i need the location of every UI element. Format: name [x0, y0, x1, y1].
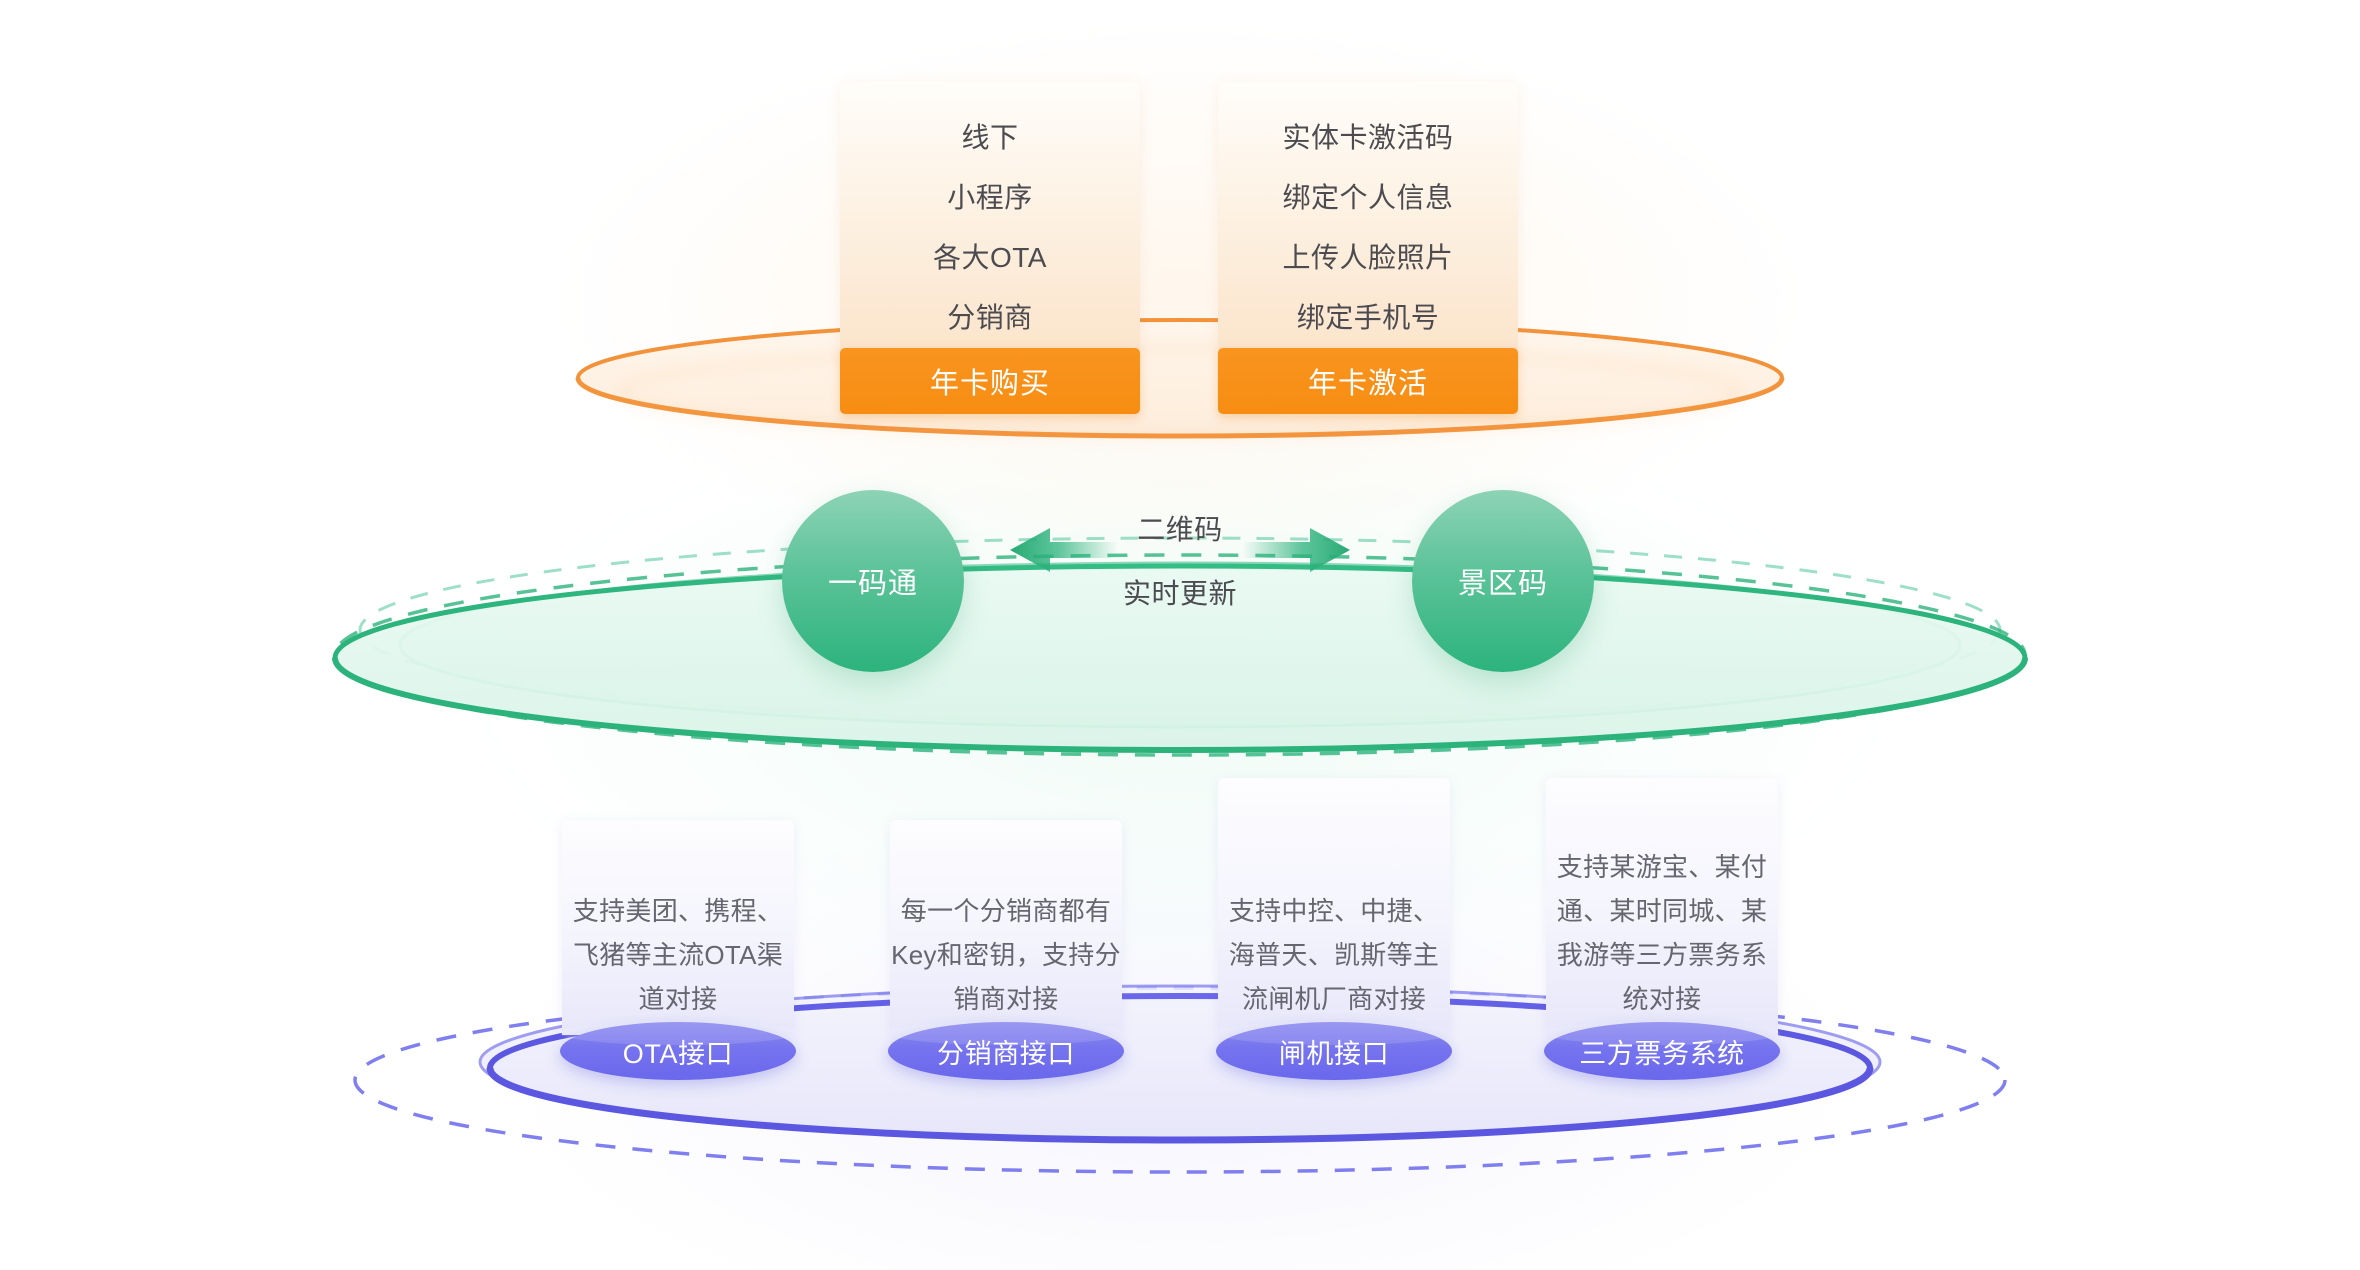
card-line: 绑定手机号 [1297, 288, 1440, 348]
card-line: 上传人脸照片 [1282, 228, 1453, 288]
card-line: 各大OTA [933, 228, 1047, 288]
card-line: 分销商 [947, 288, 1033, 348]
third-party-ticketing-card: 支持某游宝、某付通、某时同城、某我游等三方票务系统对接 [1546, 778, 1778, 1035]
card-line: 小程序 [947, 168, 1033, 228]
activation-step-card: 实体卡激活码 绑定个人信息 上传人脸照片 绑定手机号 [1218, 82, 1518, 354]
card-description: 支持中控、中捷、海普天、凯斯等主流闸机厂商对接 [1218, 889, 1450, 1021]
card-line: 实体卡激活码 [1282, 108, 1453, 168]
ota-interface-card: 支持美团、携程、飞猪等主流OTA渠道对接 [562, 820, 794, 1035]
purchase-channel-card: 线下 小程序 各大OTA 分销商 [840, 82, 1140, 354]
gate-interface-card: 支持中控、中捷、海普天、凯斯等主流闸机厂商对接 [1218, 778, 1450, 1035]
annual-card-purchase-button[interactable]: 年卡购买 [840, 348, 1140, 414]
scenic-code-node[interactable]: 景区码 [1412, 490, 1594, 672]
qr-code-label: 二维码 [1050, 508, 1310, 548]
ota-interface-button[interactable]: OTA接口 [560, 1022, 796, 1080]
distributor-interface-button[interactable]: 分销商接口 [888, 1022, 1124, 1080]
unified-code-node[interactable]: 一码通 [782, 490, 964, 672]
annual-card-activation-button[interactable]: 年卡激活 [1218, 348, 1518, 414]
card-description: 每一个分销商都有Key和密钥，支持分销商对接 [890, 889, 1122, 1021]
realtime-update-label: 实时更新 [1050, 572, 1310, 612]
card-description: 支持某游宝、某付通、某时同城、某我游等三方票务系统对接 [1546, 845, 1778, 1021]
third-party-ticketing-button[interactable]: 三方票务系统 [1544, 1022, 1780, 1080]
diagram-canvas: 线下 小程序 各大OTA 分销商 实体卡激活码 绑定个人信息 上传人脸照片 绑定… [0, 0, 2360, 1270]
distributor-interface-card: 每一个分销商都有Key和密钥，支持分销商对接 [890, 820, 1122, 1035]
green-platform-ellipse [335, 538, 2025, 755]
gate-interface-button[interactable]: 闸机接口 [1216, 1022, 1452, 1080]
card-description: 支持美团、携程、飞猪等主流OTA渠道对接 [562, 889, 794, 1021]
annual-card-tier-cards: 线下 小程序 各大OTA 分销商 实体卡激活码 绑定个人信息 上传人脸照片 绑定… [840, 82, 1518, 354]
card-line: 线下 [961, 108, 1018, 168]
card-line: 绑定个人信息 [1282, 168, 1453, 228]
